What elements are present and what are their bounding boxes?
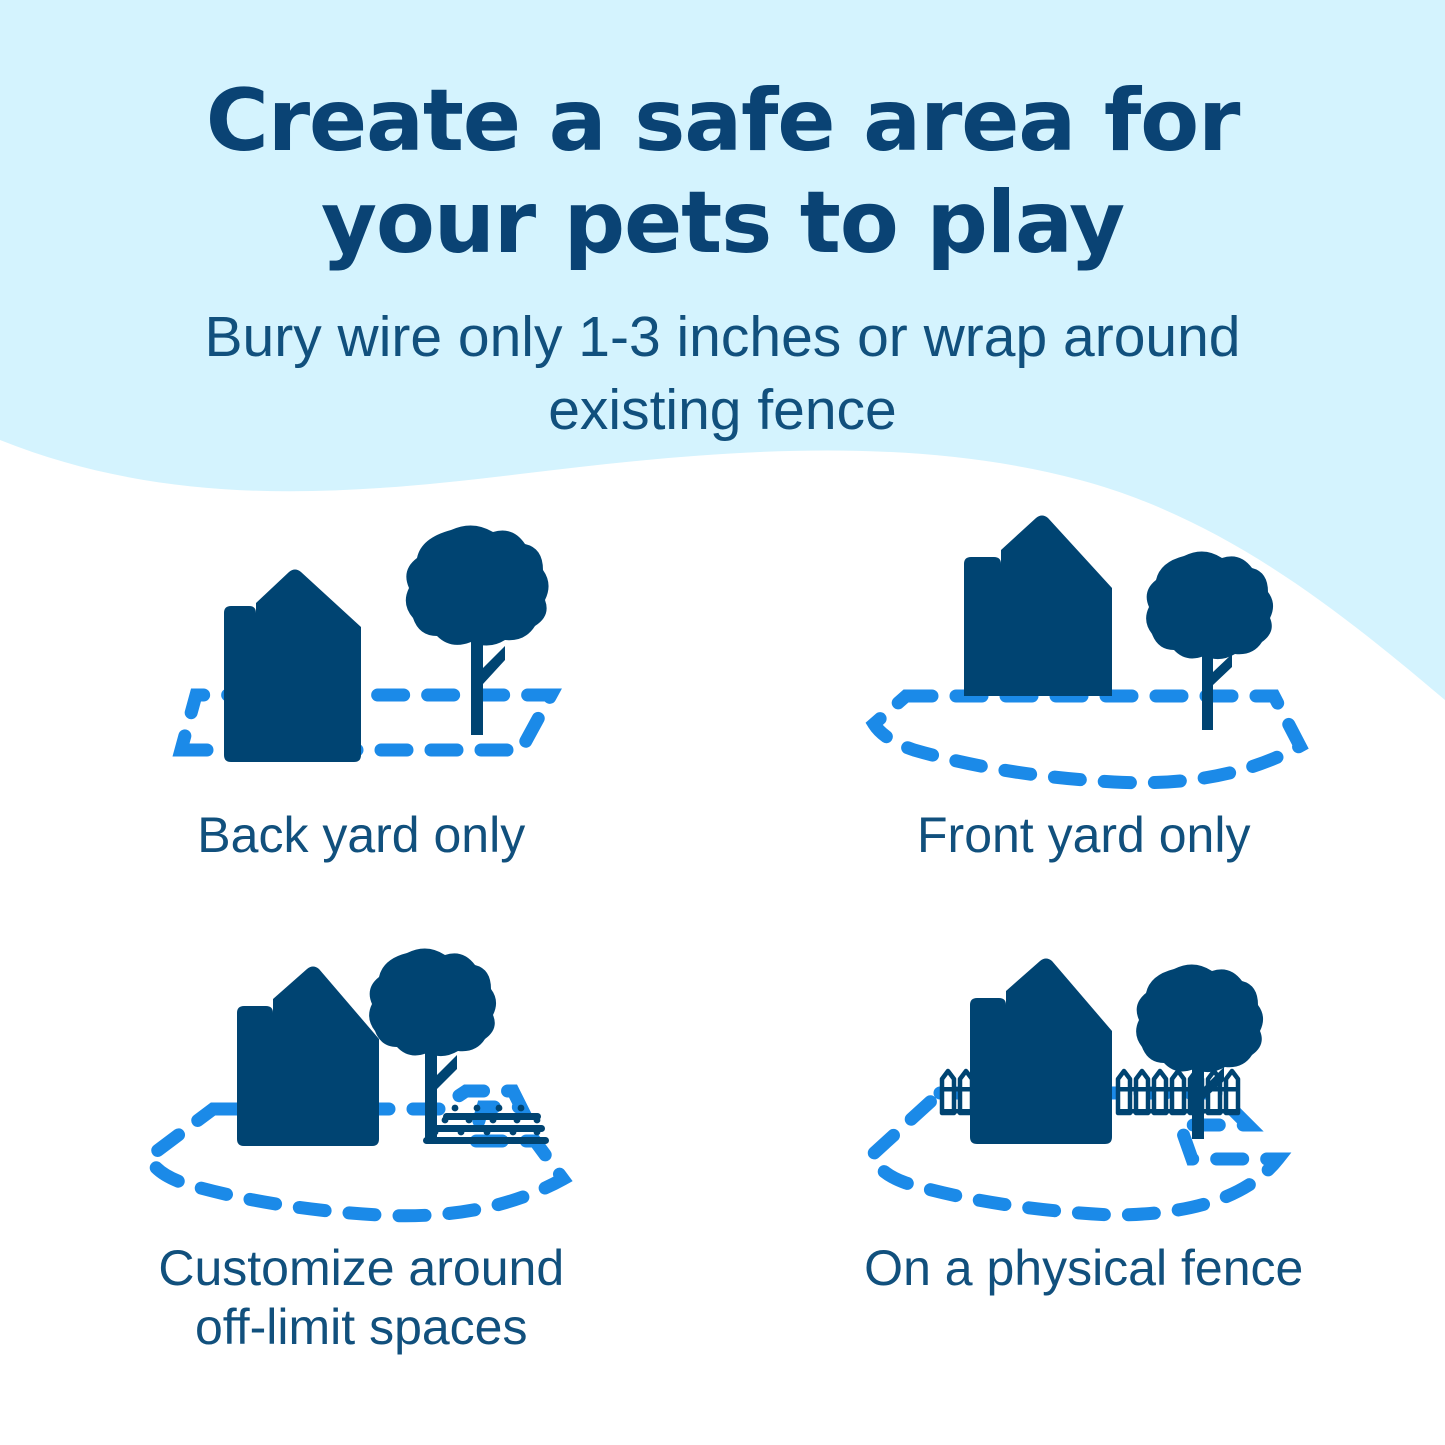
card-front-yard-only: Front yard only [723, 500, 1445, 865]
house-icon [224, 570, 361, 763]
card-caption: Front yard only [917, 806, 1250, 865]
infographic-root: Create a safe area for your pets to play… [0, 0, 1445, 1445]
card-on-a-physical-fence: On a physical fence [723, 933, 1445, 1357]
illustration-physical-fence [844, 933, 1324, 1233]
boundary-wire-front-yard [874, 696, 1300, 783]
house-icon [970, 959, 1112, 1145]
card-caption: On a physical fence [864, 1239, 1303, 1298]
page-subtitle: Bury wire only 1-3 inches or wrap around… [0, 275, 1445, 447]
illustration-off-limit-spaces [121, 933, 601, 1233]
house-icon [964, 516, 1112, 697]
illustration-back-yard-only [121, 500, 601, 800]
card-caption: Back yard only [197, 806, 525, 865]
feature-grid: Back yard only Front yard only [0, 500, 1445, 1357]
card-caption: Customize around off-limit spaces [158, 1239, 564, 1357]
card-customize-around-off-limit-spaces: Customize around off-limit spaces [0, 933, 723, 1357]
header: Create a safe area for your pets to play… [0, 0, 1445, 447]
tree-icon [1146, 551, 1273, 730]
tree-icon [406, 525, 549, 735]
illustration-front-yard-only [844, 500, 1324, 800]
page-title: Create a safe area for your pets to play [0, 0, 1445, 275]
house-icon [237, 967, 379, 1147]
card-back-yard-only: Back yard only [0, 500, 723, 865]
